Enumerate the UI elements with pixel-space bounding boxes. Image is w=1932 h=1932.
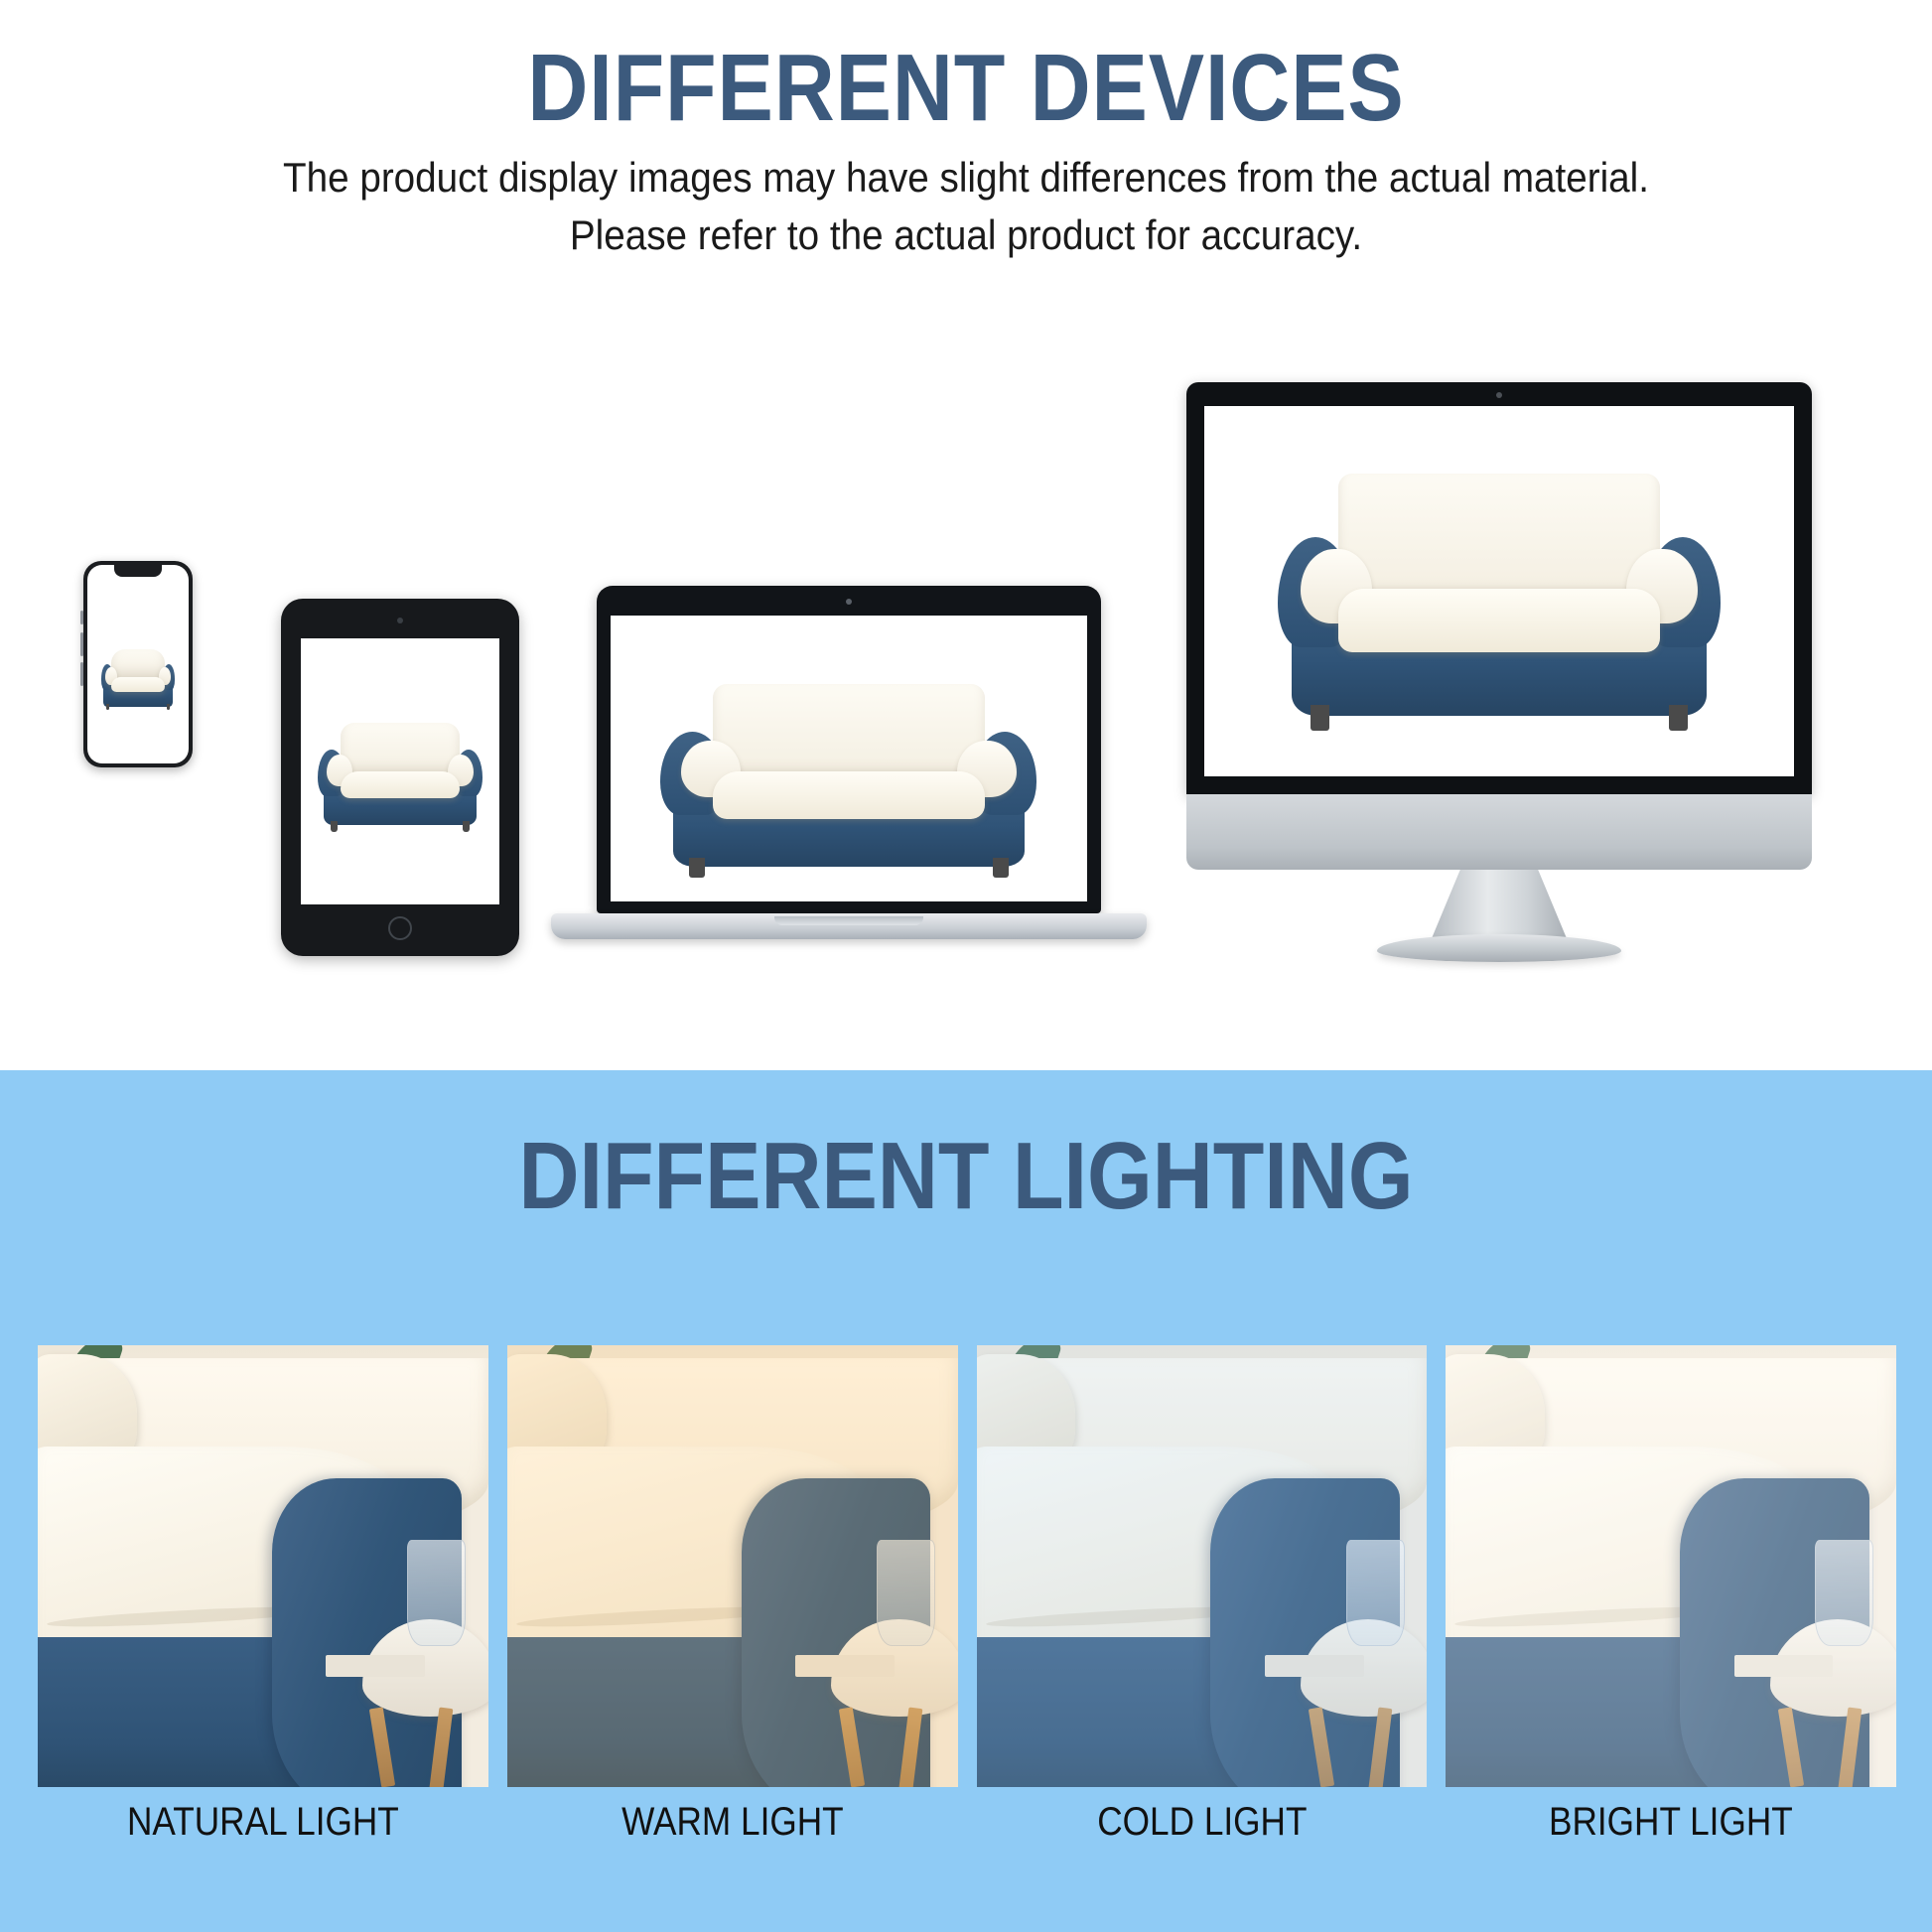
laptop-thumb-groove [774,916,923,925]
sofa-illustration [648,667,1048,885]
tablet-device-mockup [281,599,519,956]
monitor-stand-neck [1430,870,1569,943]
phone-volume-up-button [80,632,83,656]
lighting-card-bright: BRIGHT LIGHT [1446,1345,1896,1787]
lighting-title: DIFFERENT LIGHTING [116,1122,1816,1231]
devices-title: DIFFERENT DEVICES [116,34,1816,143]
phone-volume-down-button [80,662,83,686]
monitor-product-image [1263,451,1734,740]
laptop-product-image [648,667,1048,885]
lighting-cards-grid: NATURAL LIGHT WARM LIGHT [38,1345,1896,1787]
sofa-illustration [1263,451,1734,740]
lighting-label-warm: WARM LIGHT [534,1800,930,1845]
devices-subtitle-line-2: Please refer to the actual product for a… [77,211,1855,259]
lighting-card-natural: NATURAL LIGHT [38,1345,488,1787]
monitor-screen [1204,406,1794,776]
phone-notch-icon [114,565,162,577]
different-devices-section: DIFFERENT DEVICES The product display im… [0,0,1932,1070]
lighting-card-cold: COLD LIGHT [977,1345,1428,1787]
tablet-product-image [313,713,487,835]
phone-product-image [98,644,178,712]
lighting-card-warm: WARM LIGHT [507,1345,958,1787]
phone-side-button [80,611,83,624]
tablet-camera-icon [397,618,403,623]
lighting-photo-bright [1446,1345,1896,1787]
lighting-label-natural: NATURAL LIGHT [65,1800,461,1845]
monitor-device-mockup [1186,382,1812,963]
lighting-label-cold: COLD LIGHT [1004,1800,1400,1845]
phone-device-mockup [83,561,193,767]
laptop-lid [597,586,1101,913]
lighting-photo-cold [977,1345,1428,1787]
devices-subtitle-line-1: The product display images may have slig… [77,154,1855,202]
lighting-label-bright: BRIGHT LIGHT [1472,1800,1868,1845]
phone-screen [87,565,189,763]
sofa-illustration [313,713,487,835]
laptop-screen [611,616,1087,901]
tablet-home-button-icon [388,916,412,940]
laptop-device-mockup [551,586,1147,983]
tablet-screen [301,638,499,904]
sofa-illustration [98,644,178,712]
different-lighting-section: DIFFERENT LIGHTING NATURAL LIGHT [0,1070,1932,1932]
monitor-stand-base [1377,934,1621,962]
lighting-photo-natural [38,1345,488,1787]
monitor-camera-icon [1496,392,1502,398]
monitor-bezel [1186,382,1812,794]
monitor-chin [1186,794,1812,870]
lighting-photo-warm [507,1345,958,1787]
laptop-webcam-icon [846,599,852,605]
